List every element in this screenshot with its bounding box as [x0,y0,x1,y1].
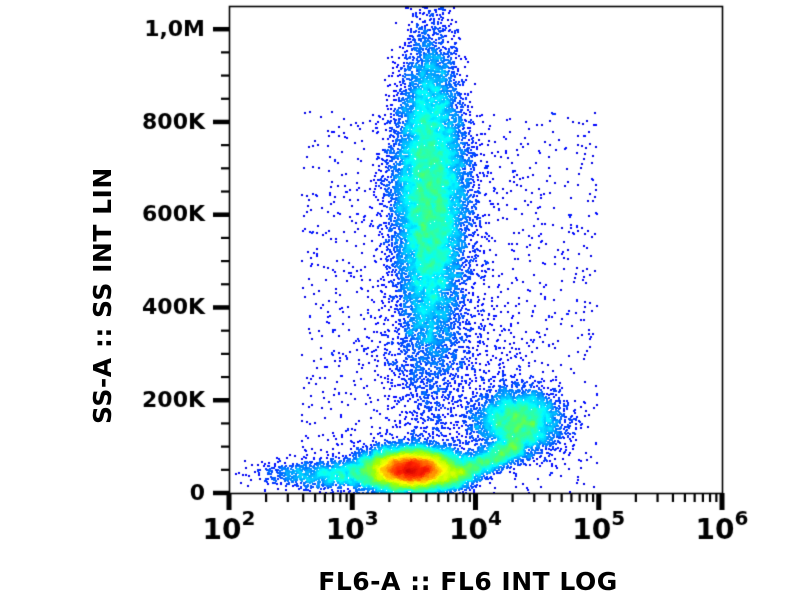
y-axis-title: SS-A :: SS INT LIN [88,167,117,424]
scatter-plot-canvas [0,0,800,600]
flow-cytometry-plot: SS-A :: SS INT LIN FL6-A :: FL6 INT LOG [0,0,800,600]
x-axis-title: FL6-A :: FL6 INT LOG [68,567,800,596]
